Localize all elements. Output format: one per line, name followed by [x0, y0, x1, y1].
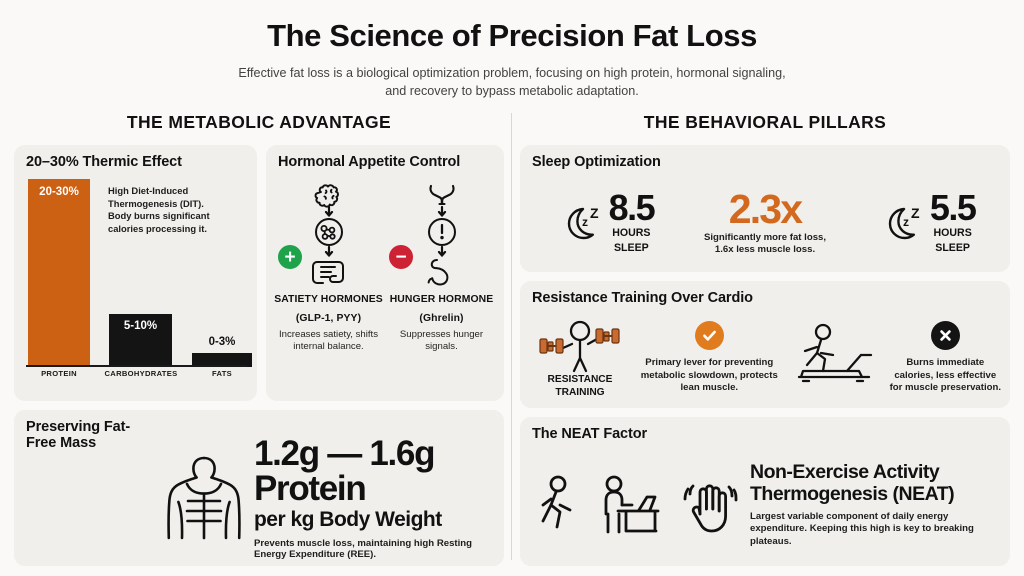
neat-headline-line1: Non-Exercise Activity [750, 461, 1000, 484]
hunger-flow [385, 181, 498, 287]
resistance-caption-line1: RESISTANCE [548, 374, 613, 386]
hunger-hormone-detail: (Ghrelin) [419, 312, 463, 325]
bar-label-protein: 20-30% [28, 186, 90, 198]
dumbbell-lifter-icon [532, 317, 628, 373]
left-top-row: 20–30% Thermic Effect 20-30% 5-10% 0-3% [14, 145, 504, 401]
sleep-card-title: Sleep Optimization [520, 145, 1010, 170]
resistance-training-card: Resistance Training Over Cardio [520, 281, 1010, 408]
sleep-comparison: 2.3x Significantly more fat loss, 1.6x l… [683, 189, 848, 257]
header: The Science of Precision Fat Loss Effect… [0, 0, 1024, 101]
chart-plot-area: 20-30% 5-10% 0-3% High Diet-Induced Ther… [26, 179, 247, 367]
left-column: THE METABOLIC ADVANTAGE 20–30% Thermic E… [0, 112, 512, 566]
hunger-hormone-name: HUNGER HORMONE [390, 293, 494, 306]
alert-icon [421, 217, 463, 257]
bar-protein: 20-30% [28, 179, 90, 367]
sleep-caption-right-1: HOURS [930, 227, 976, 239]
treadmill-runner-icon [785, 323, 889, 389]
walking-person-icon [534, 474, 586, 536]
sleep-optimization-card: Sleep Optimization z Z 8.5 HOURS SLEEP [520, 145, 1010, 272]
resistance-side: RESISTANCE TRAINING Primary lever for pr… [528, 317, 785, 399]
chart-tick-labels: PROTEIN CARBOHYDRATES FATS [26, 369, 247, 385]
neat-note: Largest variable component of daily ener… [750, 511, 1000, 548]
neat-factor-card: The NEAT Factor [520, 417, 1010, 566]
svg-text:Z: Z [590, 205, 599, 221]
tick-label-fats: FATS [188, 369, 256, 378]
protein-headline: 1.2g — 1.6g Protein [254, 436, 494, 507]
fidgeting-hand-icon [678, 474, 738, 536]
moon-sleep-icon: z Z [555, 198, 605, 246]
page-subtitle: Effective fat loss is a biological optim… [232, 64, 792, 101]
satiety-hormone-description: Increases satiety, shifts internal balan… [272, 329, 385, 354]
bar-carbohydrates: 5-10% [109, 314, 172, 367]
protein-card-title: Preserving Fat-Free Mass [14, 410, 150, 566]
sleep-caption-right-2: SLEEP [930, 242, 976, 254]
satiety-hormone-name: SATIETY HORMONES [274, 293, 383, 306]
neat-headline-line2: Thermogenesis (NEAT) [750, 483, 1000, 506]
cardio-description: Burns immediate calories, less effective… [889, 357, 1002, 394]
protein-subhead: per kg Body Weight [254, 508, 494, 532]
sleep-unit-right: z Z 5.5 HOURS SLEEP [847, 191, 1004, 255]
protein-text: 1.2g — 1.6g Protein per kg Body Weight P… [250, 436, 494, 560]
fat-loss-multiplier: 2.3x [683, 189, 848, 230]
hormone-column-satiety: + [272, 181, 385, 393]
hormone-column-hunger: − [385, 181, 498, 393]
cardio-side: Burns immediate calories, less effective… [785, 321, 1002, 394]
protein-card-body: 1.2g — 1.6g Protein per kg Body Weight P… [150, 410, 504, 566]
resistance-card-title: Resistance Training Over Cardio [520, 281, 1010, 306]
multiplier-note-line2: 1.6x less muscle loss. [683, 244, 848, 256]
stomach-icon [421, 257, 463, 287]
sleep-caption-left-2: SLEEP [609, 242, 655, 254]
satiety-hormone-detail: (GLP-1, PYY) [296, 312, 361, 325]
right-column: THE BEHAVIORAL PILLARS Sleep Optimizatio… [512, 112, 1024, 566]
neat-card-title: The NEAT Factor [520, 417, 1010, 442]
hunger-hormone-description: Suppresses hunger signals. [385, 329, 498, 354]
bar-label-fats: 0-3% [192, 336, 252, 348]
protein-note: Prevents muscle loss, maintaining high R… [254, 538, 494, 560]
fat-free-mass-card: Preserving Fat-Free Mass [14, 410, 504, 566]
resistance-card-body: RESISTANCE TRAINING Primary lever for pr… [528, 313, 1002, 403]
protein-icon-wrap [158, 454, 250, 542]
check-icon [695, 321, 724, 350]
chart-axis-line [26, 365, 247, 367]
cross-icon [931, 321, 960, 350]
resistance-caption-line2: TRAINING [555, 387, 604, 399]
resistance-description: Primary lever for preventing metabolic s… [634, 357, 785, 394]
treadmill-icon-block [785, 323, 889, 394]
svg-text:z: z [582, 215, 588, 229]
sleep-card-body: z Z 8.5 HOURS SLEEP 2.3x Significantly m… [526, 179, 1004, 266]
neat-text: Non-Exercise Activity Thermogenesis (NEA… [744, 461, 1000, 549]
hormone-card-title: Hormonal Appetite Control [266, 145, 504, 170]
page-title: The Science of Precision Fat Loss [0, 18, 1024, 54]
tick-label-protein: PROTEIN [22, 369, 96, 378]
satiety-flow [272, 181, 385, 287]
left-column-heading: THE METABOLIC ADVANTAGE [14, 112, 504, 133]
infographic-page: The Science of Precision Fat Loss Effect… [0, 0, 1024, 576]
neat-icon-group [528, 473, 744, 537]
svg-text:Z: Z [911, 205, 920, 221]
bar-label-carbohydrates: 5-10% [109, 320, 172, 332]
hormonal-appetite-card: Hormonal Appetite Control + [266, 145, 504, 401]
sleep-hours-left: 8.5 [609, 191, 655, 224]
thermic-bar-chart: 20-30% 5-10% 0-3% High Diet-Induced Ther… [26, 179, 247, 393]
hypothalamus-icon [421, 183, 463, 217]
columns: THE METABOLIC ADVANTAGE 20–30% Thermic E… [0, 112, 1024, 566]
muscular-torso-icon [162, 454, 246, 542]
multiplier-note-line1: Significantly more fat loss, [683, 232, 848, 244]
standing-desk-worker-icon [597, 473, 667, 537]
intestine-icon [307, 257, 351, 287]
tick-label-carbohydrates: CARBOHYDRATES [96, 369, 186, 378]
sleep-hours-right: 5.5 [930, 191, 976, 224]
right-column-heading: THE BEHAVIORAL PILLARS [520, 112, 1010, 133]
thermic-effect-card: 20–30% Thermic Effect 20-30% 5-10% 0-3% [14, 145, 257, 401]
brain-icon [308, 183, 350, 217]
sleep-unit-left: z Z 8.5 HOURS SLEEP [526, 191, 683, 255]
molecule-icon [308, 217, 350, 257]
resistance-icon-block: RESISTANCE TRAINING [528, 317, 632, 399]
moon-sleep-icon-2: z Z [876, 198, 926, 246]
neat-card-body: Non-Exercise Activity Thermogenesis (NEA… [528, 449, 1000, 560]
sleep-caption-left-1: HOURS [609, 227, 655, 239]
hormone-columns: + [272, 181, 498, 393]
thermic-card-title: 20–30% Thermic Effect [14, 145, 257, 170]
thermic-annotation: High Diet-Induced Thermogenesis (DIT). B… [108, 185, 226, 235]
svg-text:z: z [903, 215, 909, 229]
